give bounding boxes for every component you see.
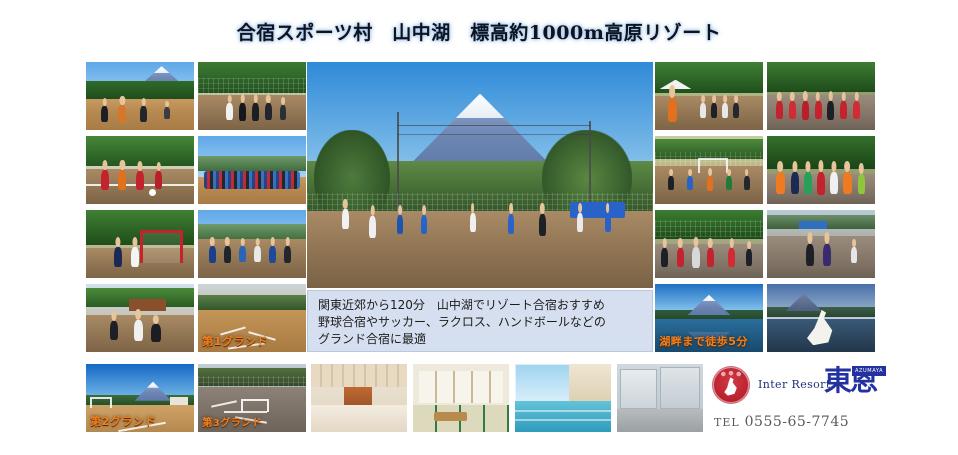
bottom-gallery-photo-6[interactable] (617, 364, 703, 432)
poster-canvas: 合宿スポーツ村 山中湖 標高約1000m高原リゾート (0, 0, 958, 455)
description-panel: 関東近郊から120分 山中湖でリゾート合宿おすすめ 野球合宿やサッカー、ラクロス… (307, 290, 653, 352)
brand-romaji-badge: AZUMAYA (852, 366, 886, 376)
description-line-3: グランド合宿に最適 (318, 331, 644, 347)
page-title: 合宿スポーツ村 山中湖 標高約1000m高原リゾート (0, 18, 958, 45)
right-gallery-photo-2[interactable] (767, 62, 875, 130)
telephone: TEL 0555-65-7745 (714, 414, 849, 430)
description-line-2: 野球合宿やサッカー、ラクロス、ハンドボールなどの (318, 314, 644, 330)
brand-name-en: Inter Resort (758, 378, 831, 391)
photo-caption: 湖畔まで徒歩5分 (659, 333, 748, 349)
description-line-1: 関東近郊から120分 山中湖でリゾート合宿おすすめ (318, 297, 644, 313)
bottom-gallery-photo-5[interactable] (515, 364, 611, 432)
hero-photo-mount-fuji[interactable] (307, 62, 653, 288)
swan-badge-icon (712, 366, 750, 404)
left-gallery-photo-2[interactable] (198, 62, 306, 130)
bottom-gallery-photo-2[interactable]: 第3グランド (198, 364, 306, 432)
telephone-number: 0555-65-7745 (745, 414, 850, 430)
right-gallery-photo-7[interactable]: 湖畔まで徒歩5分 (655, 284, 763, 352)
photo-caption: 第1グランド (202, 333, 268, 349)
right-gallery-photo-5[interactable] (655, 210, 763, 278)
left-gallery-photo-3[interactable] (86, 136, 194, 204)
telephone-label: TEL (714, 416, 740, 429)
left-gallery-photo-8[interactable]: 第1グランド (198, 284, 306, 352)
right-gallery-photo-8[interactable] (767, 284, 875, 352)
right-gallery-photo-4[interactable] (767, 136, 875, 204)
left-gallery-photo-5[interactable] (86, 210, 194, 278)
photo-caption: 第2グランド (90, 413, 156, 429)
right-gallery-photo-1[interactable] (655, 62, 763, 130)
left-gallery-photo-4[interactable] (198, 136, 306, 204)
left-gallery-photo-1[interactable] (86, 62, 194, 130)
bottom-gallery-photo-1[interactable]: 第2グランド (86, 364, 194, 432)
left-gallery-photo-7[interactable] (86, 284, 194, 352)
brand-logo-block: Inter Resort 東恩 AZUMAYA TEL 0555-65-7745 (712, 364, 888, 440)
bottom-gallery-photo-3[interactable] (311, 364, 407, 432)
photo-caption: 第3グランド (202, 414, 262, 429)
left-gallery-photo-6[interactable] (198, 210, 306, 278)
right-gallery-photo-3[interactable] (655, 136, 763, 204)
bottom-gallery-photo-4[interactable] (413, 364, 509, 432)
right-gallery-photo-6[interactable] (767, 210, 875, 278)
